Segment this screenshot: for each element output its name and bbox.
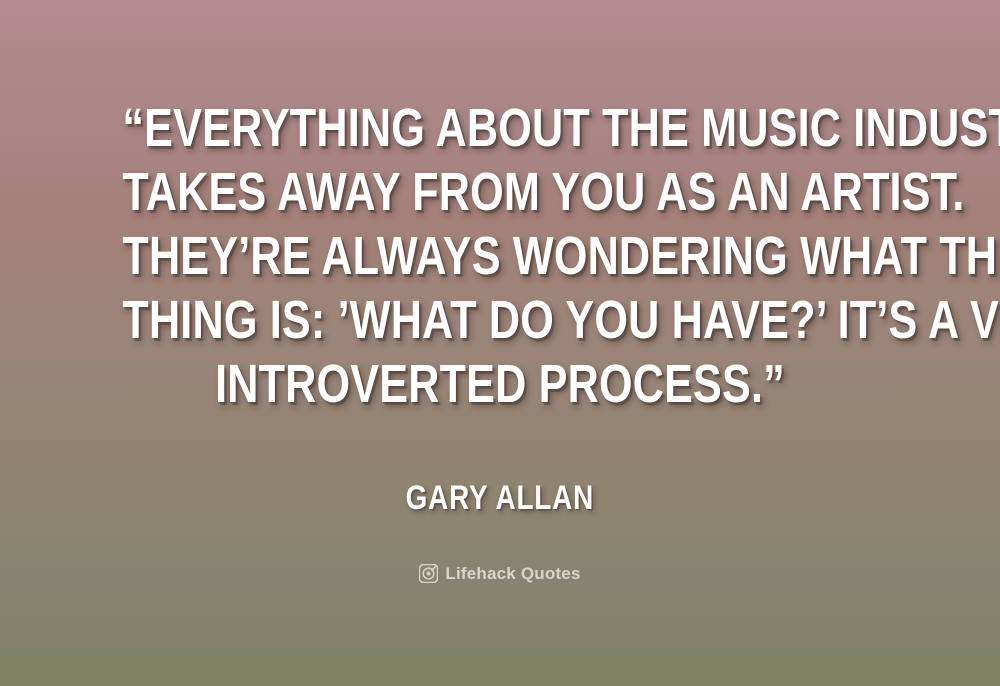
quote-line: THEY’RE ALWAYS WONDERING WHAT THE NEXT: [122, 224, 877, 288]
lifehack-copyright-target-icon: [419, 564, 438, 583]
quote-line: INTROVERTED PROCESS.”: [122, 352, 877, 416]
quote-image-card: “EVERYTHING ABOUT THE MUSIC INDUSTRY TAK…: [0, 0, 1000, 686]
quote-line: TAKES AWAY FROM YOU AS AN ARTIST.: [122, 160, 877, 224]
quote-text-block: “EVERYTHING ABOUT THE MUSIC INDUSTRY TAK…: [0, 96, 1000, 416]
quote-line: “EVERYTHING ABOUT THE MUSIC INDUSTRY: [122, 96, 877, 160]
quote-line: THING IS: ’WHAT DO YOU HAVE?’ IT’S A VER…: [122, 288, 877, 352]
quote-attribution: GARY ALLAN: [0, 478, 1000, 518]
author-name: GARY ALLAN: [406, 478, 594, 518]
watermark-label: Lifehack Quotes: [445, 564, 580, 583]
watermark: Lifehack Quotes: [0, 564, 1000, 583]
